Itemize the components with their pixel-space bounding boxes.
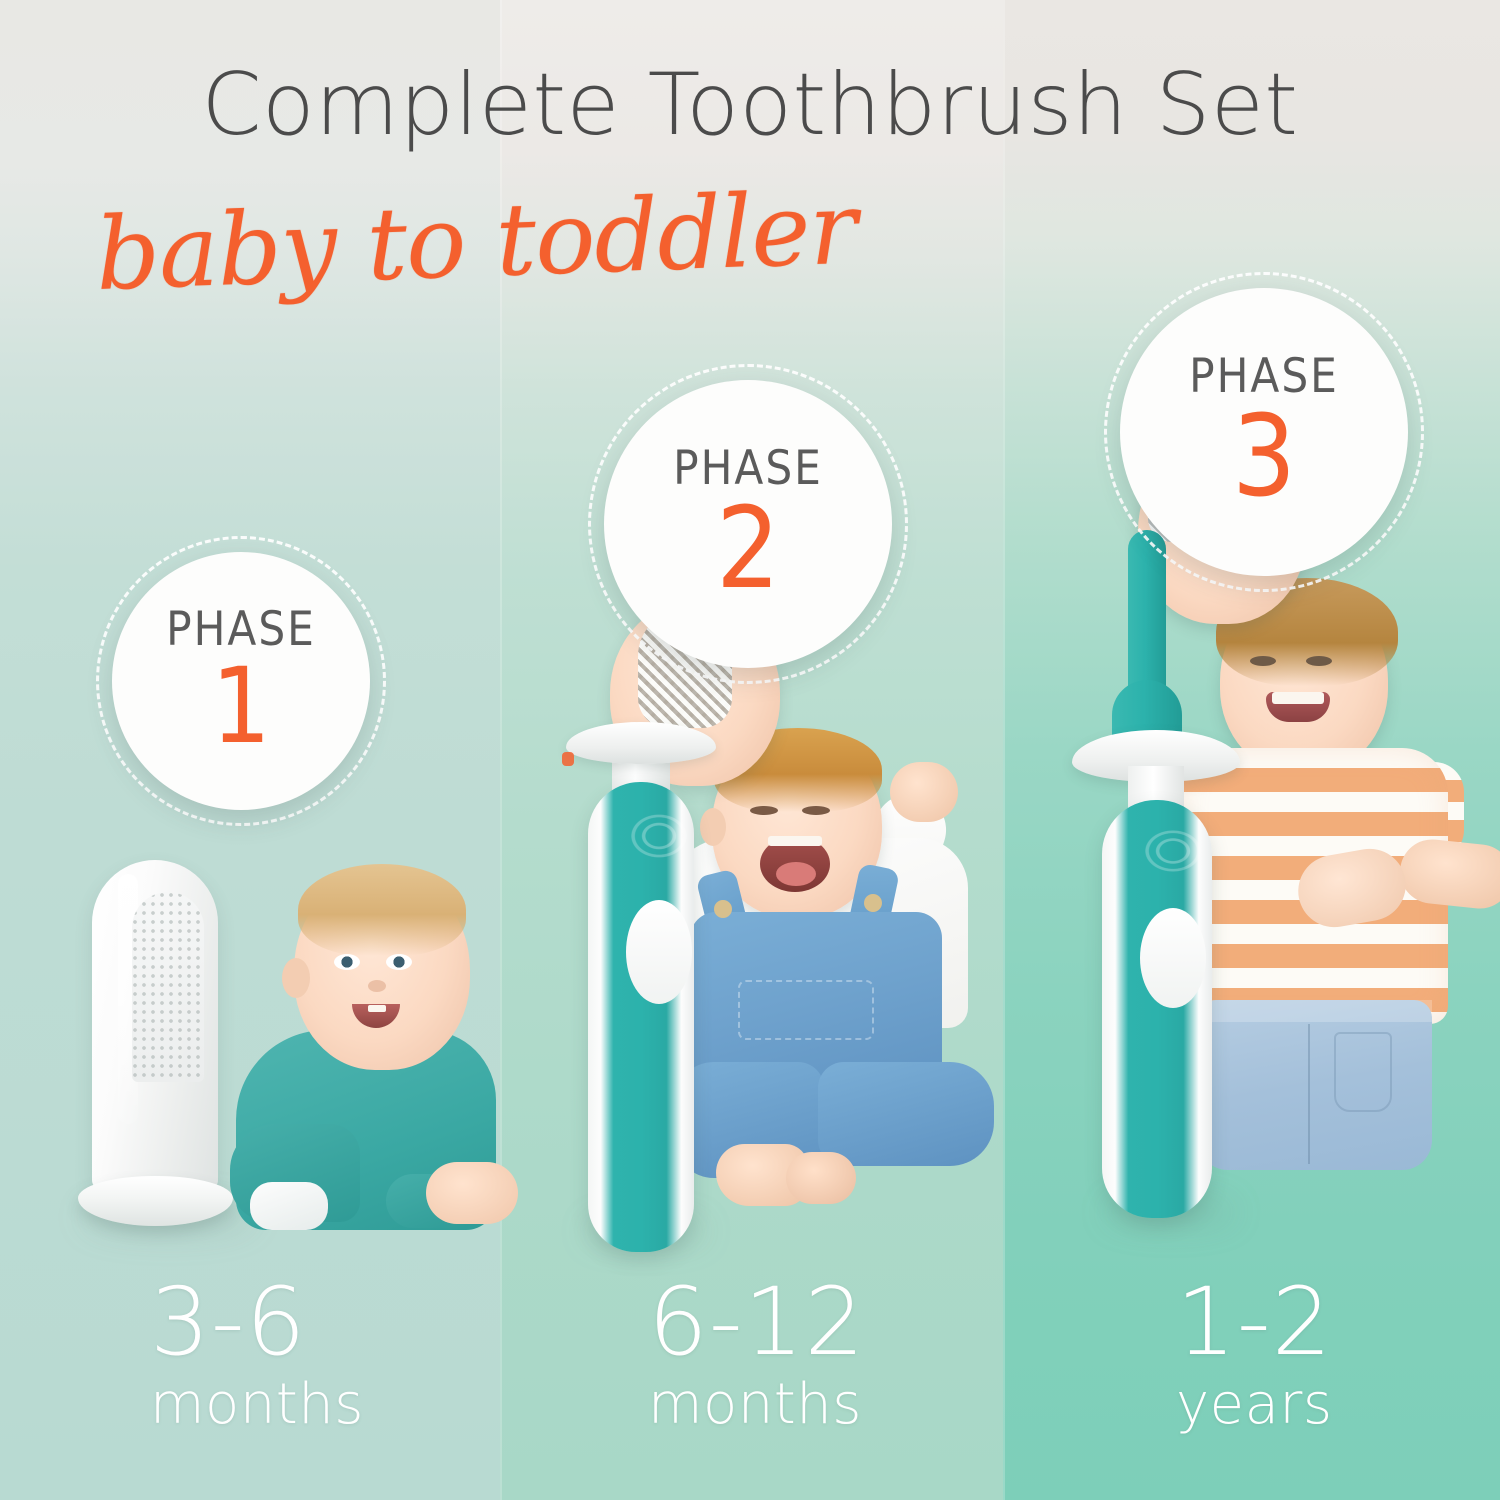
finger-brush-bristle-texture [132,892,204,1082]
baby2-eye-right [802,806,830,815]
baby3-shorts-pocket [1334,1032,1392,1112]
baby3-denim-shorts [1198,1000,1432,1170]
brush2-handle [588,782,694,1252]
phase-badge-2-disc: PHASE 2 [604,380,892,668]
finger-brush-base-flange [78,1176,233,1226]
brush3-grip-rings [1142,828,1204,874]
age-range-2: 6-12 [648,1276,865,1370]
phase-badge-3-number: 3 [1232,404,1296,510]
age-caption-2: 6-12 months [648,1276,865,1440]
baby2-leg-right [818,1062,994,1166]
phase-badge-1-number: 1 [211,657,271,756]
age-unit-2: months [648,1370,865,1440]
brush3-white-oval [1140,908,1206,1008]
baby3-eye-left [1250,656,1276,666]
baby2-button-right [864,894,882,912]
baby-photo-phase-1 [236,862,526,1252]
phase-badge-2-number: 2 [716,496,780,602]
phase-badge-3: PHASE 3 [1104,272,1424,592]
age-unit-1: months [150,1370,364,1440]
baby3-waistband [1198,1000,1432,1022]
baby3-teeth [1272,692,1324,704]
brush2-white-oval [626,900,692,1004]
baby2-teeth [768,836,822,846]
finger-brush-body [92,860,218,1190]
phase-badge-1-disc: PHASE 1 [112,552,370,810]
product-infographic: Complete Toothbrush Set baby to toddler … [0,0,1500,1500]
phase-badge-3-disc: PHASE 3 [1120,288,1408,576]
baby2-overall-pocket [738,980,874,1040]
brush2-grip-rings [628,812,690,860]
finger-toothbrush-product [78,860,233,1230]
baby2-tongue [776,862,816,886]
page-title: Complete Toothbrush Set [0,60,1500,151]
baby2-fist [890,762,958,822]
baby3-eye-right [1306,656,1332,666]
baby1-nose [368,980,386,992]
brush3-handle [1102,800,1212,1218]
brush2-safety-shield [566,722,716,764]
baby1-hair [298,864,466,956]
phase-2-toothbrush-product [566,600,716,1260]
baby2-foot-right [786,1152,856,1204]
baby-photo-phase-2 [668,732,1018,1232]
baby1-ear [282,958,310,998]
phase-badge-1: PHASE 1 [96,536,386,826]
baby1-eye-right [386,954,412,970]
baby1-hand [426,1162,518,1224]
age-range-1: 3-6 [150,1276,364,1370]
age-caption-3: 1-2 years [1176,1276,1333,1440]
age-unit-3: years [1176,1370,1333,1440]
page-subtitle: baby to toddler [94,178,858,304]
brush2-orange-accent [562,752,574,766]
baby2-button-left [714,900,732,918]
baby1-cuff [250,1182,328,1230]
age-caption-1: 3-6 months [150,1276,364,1440]
baby3-shorts-seam [1308,1024,1310,1164]
phase-badge-2: PHASE 2 [588,364,908,684]
baby1-tooth [368,1005,386,1012]
baby2-eye-left [750,806,778,815]
baby1-eye-left [334,954,360,970]
age-range-3: 1-2 [1176,1276,1333,1370]
